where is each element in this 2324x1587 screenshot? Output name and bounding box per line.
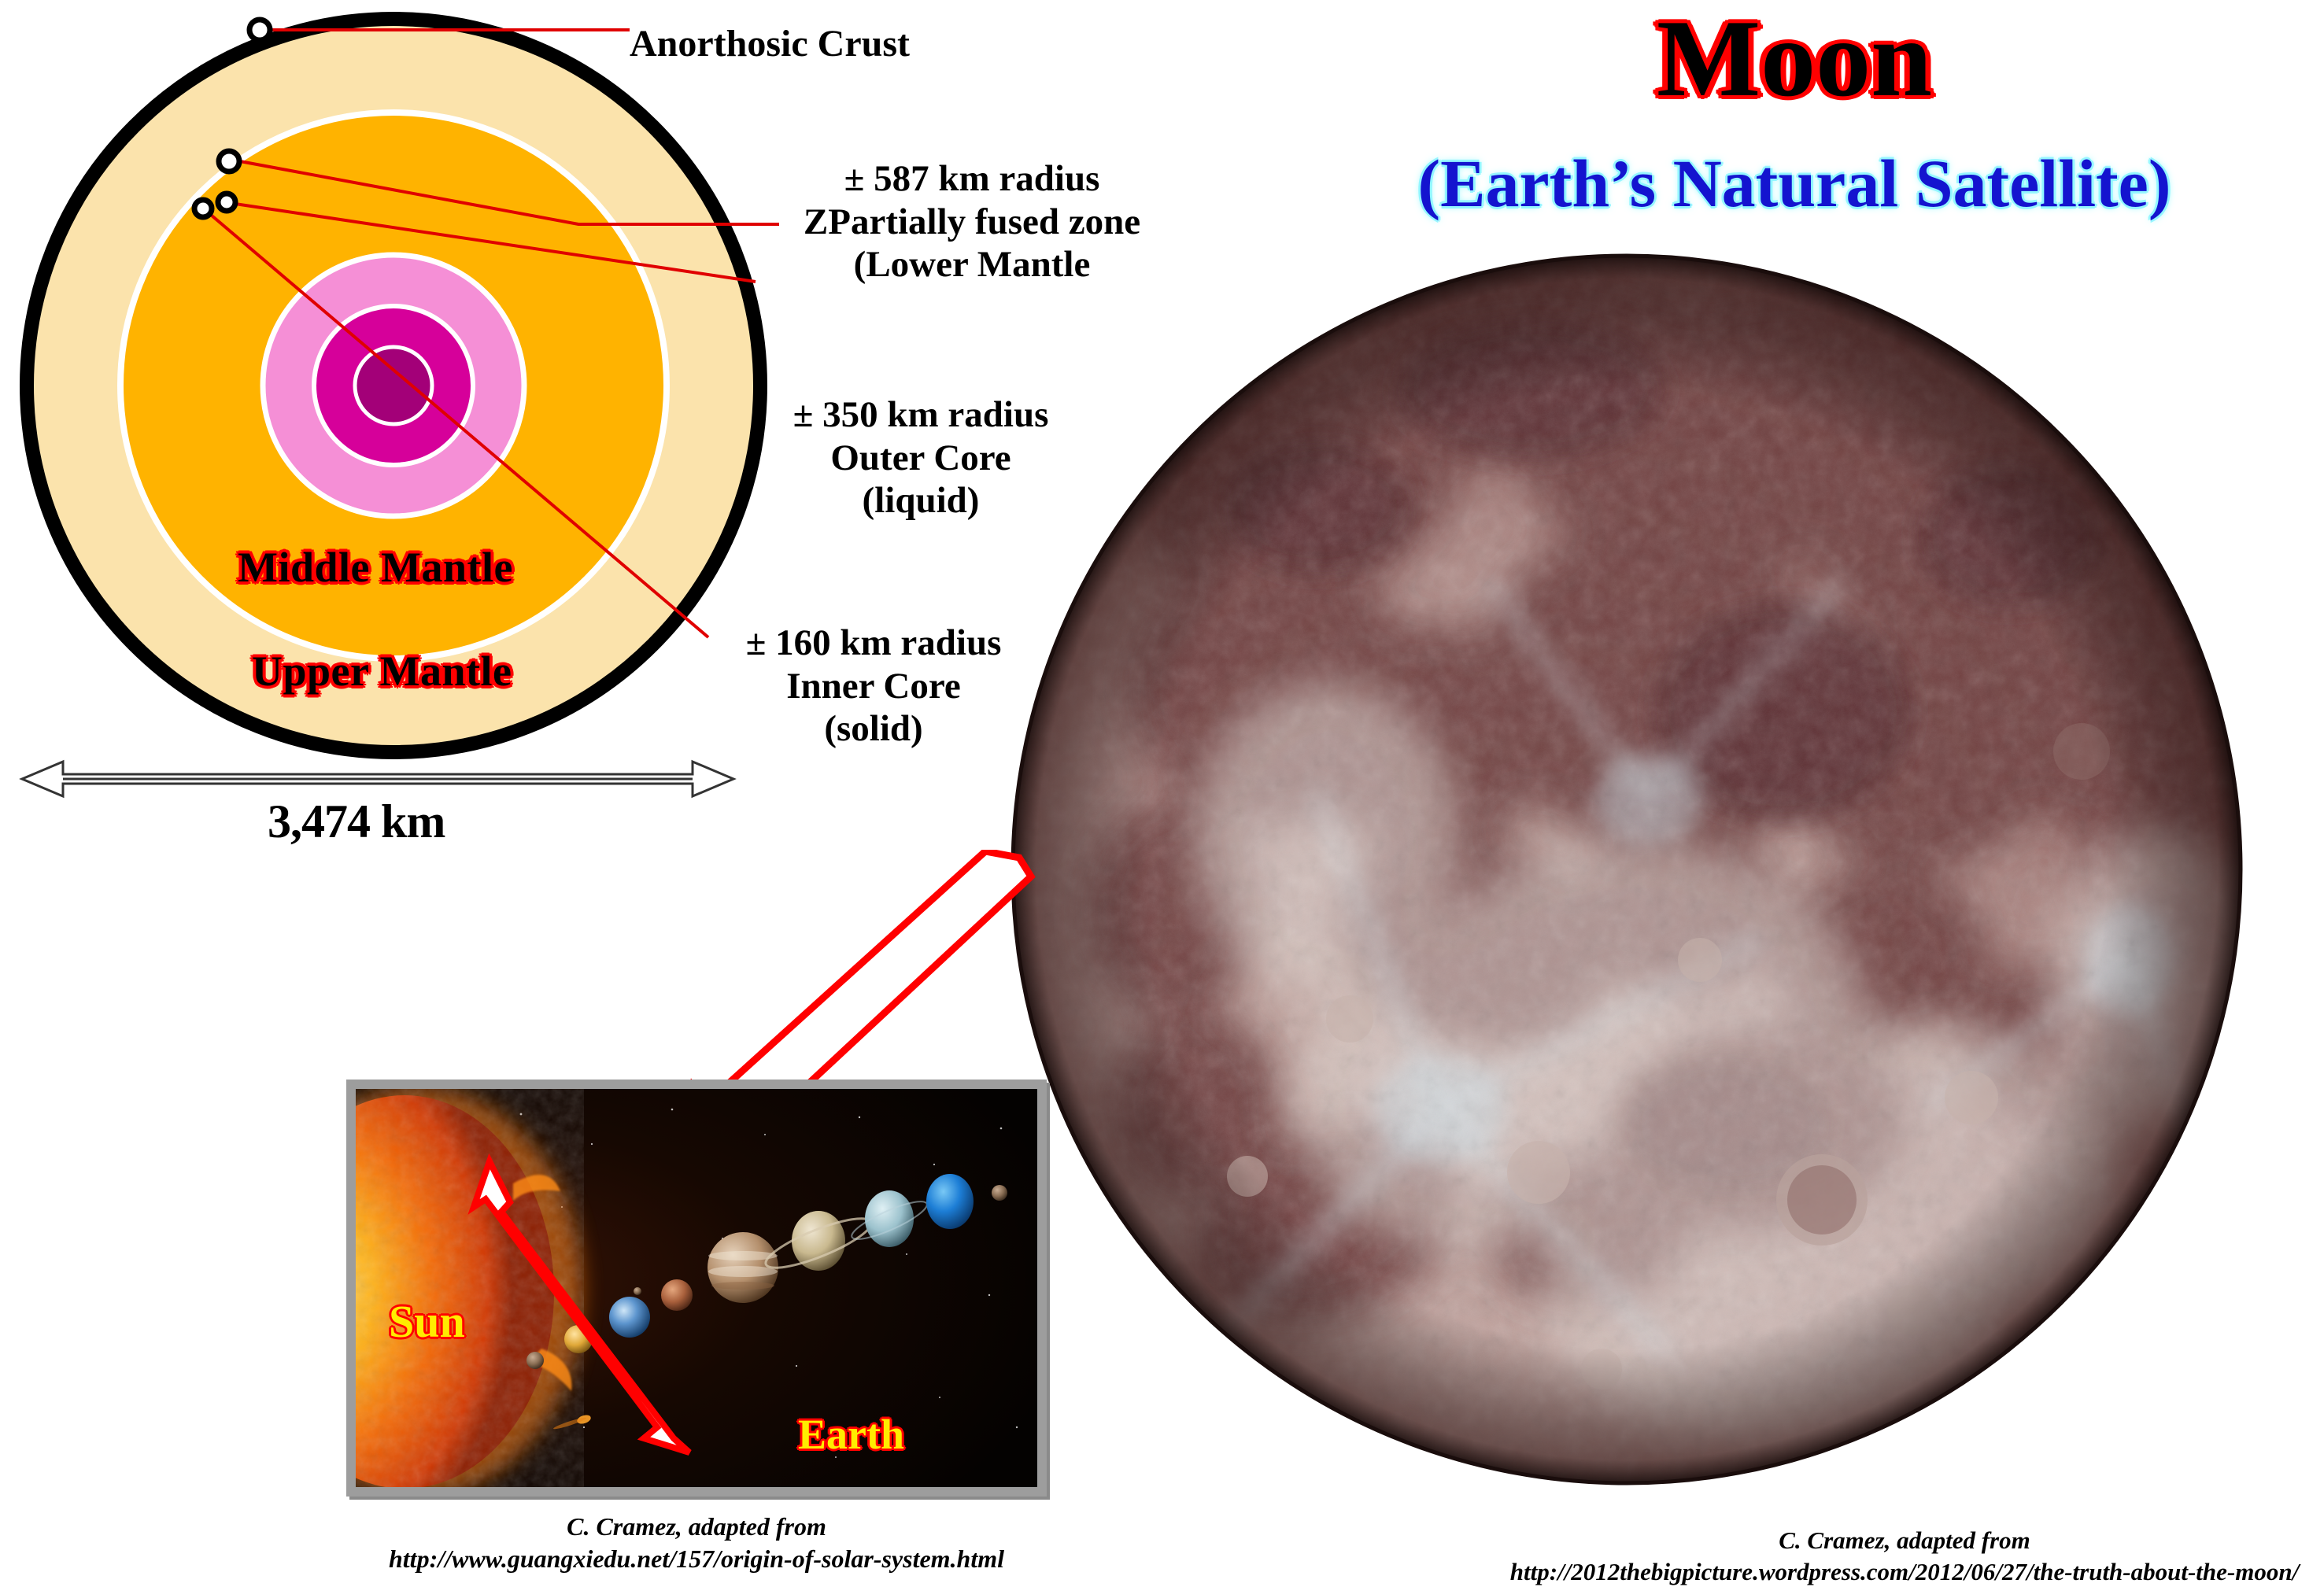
layer-inner-core xyxy=(355,347,432,424)
callout-anorthosic-crust: Anorthosic Crust xyxy=(630,22,910,66)
label-earth: Earth xyxy=(798,1410,904,1459)
solar-system-inset: Sun Earth xyxy=(346,1080,1047,1497)
label-middle-mantle: Middle Mantle xyxy=(238,543,513,592)
page-title: Moon xyxy=(1401,4,2188,114)
caption-solar-system-source: C. Cramez, adapted from http://www.guang… xyxy=(236,1511,1157,1575)
label-sun: Sun xyxy=(389,1295,465,1348)
moon-photograph xyxy=(988,248,2270,1491)
scale-bar-label: 3,474 km xyxy=(268,795,445,849)
page-subtitle: (Earth’s Natural Satellite) xyxy=(1322,149,2267,217)
label-upper-mantle: Upper Mantle xyxy=(252,647,512,696)
solar-system-image: Sun Earth xyxy=(356,1089,1037,1487)
caption-moon-source: C. Cramez, adapted from http://2012thebi… xyxy=(1480,1525,2324,1587)
